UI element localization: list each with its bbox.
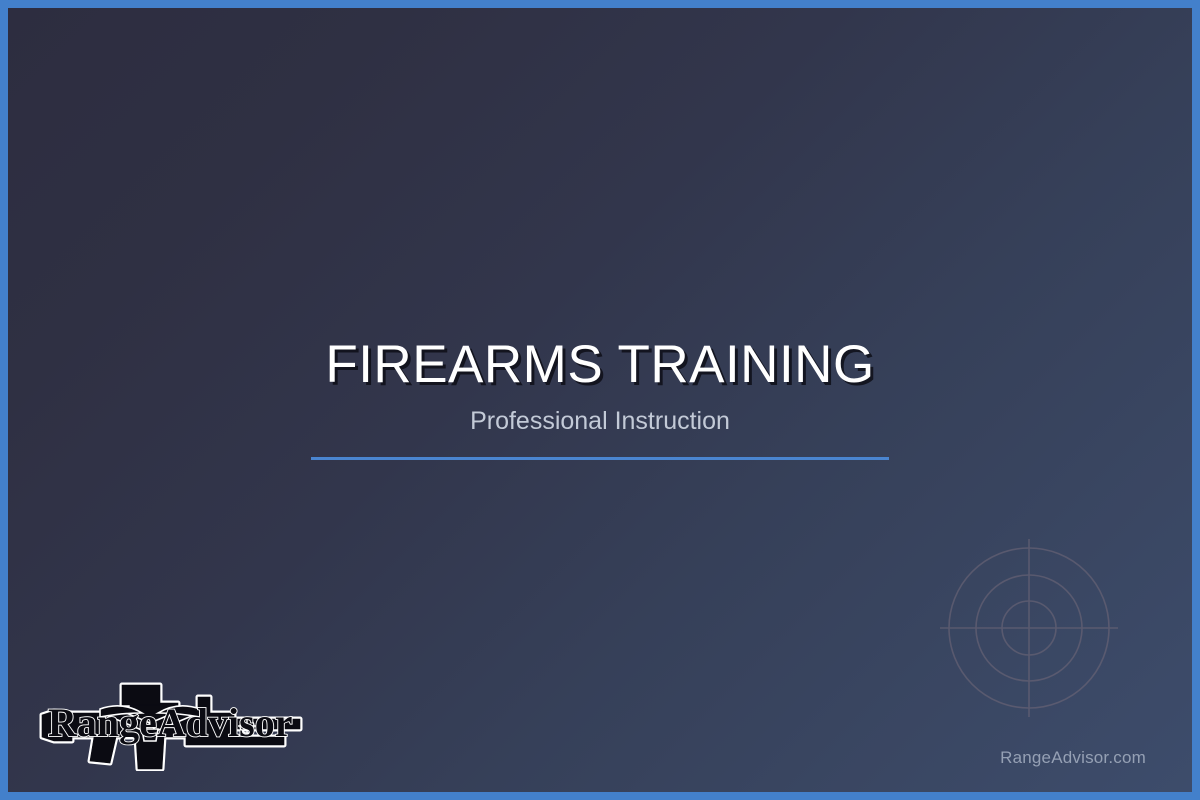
page-subtitle: Professional Instruction bbox=[8, 391, 1192, 434]
rifle-logo-icon: RangeAdvisor bbox=[38, 679, 310, 771]
footer-url: RangeAdvisor.com bbox=[1000, 748, 1146, 768]
logo-wordmark: RangeAdvisor bbox=[48, 700, 292, 745]
presentation-slide: FIREARMS TRAINING Professional Instructi… bbox=[0, 0, 1200, 800]
page-title: FIREARMS TRAINING bbox=[8, 338, 1192, 391]
slide-canvas: FIREARMS TRAINING Professional Instructi… bbox=[8, 8, 1192, 792]
crosshair-target-icon bbox=[929, 528, 1129, 728]
accent-divider bbox=[311, 457, 889, 460]
title-block: FIREARMS TRAINING Professional Instructi… bbox=[8, 338, 1192, 460]
